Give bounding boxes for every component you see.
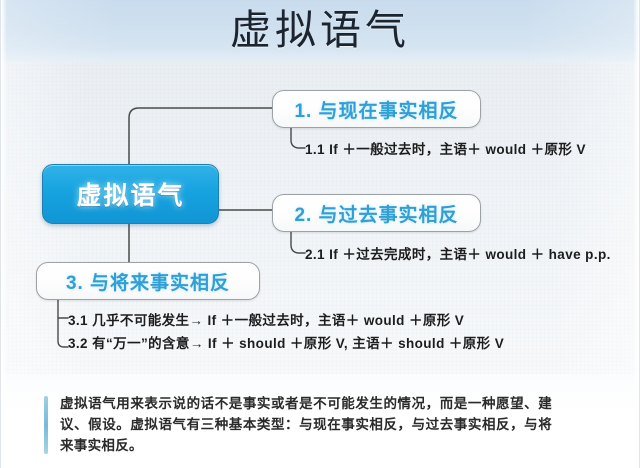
branch-node-3[interactable]: 3. 与将来事实相反 bbox=[36, 262, 260, 300]
sub-item-1-1: 1.1 If ＋一般过去时，主语＋ would ＋原形 V bbox=[305, 138, 586, 158]
central-node[interactable]: 虚拟语气 bbox=[42, 164, 219, 224]
branch-node-3-label: 3. 与将来事实相反 bbox=[66, 268, 230, 295]
branch-node-1-label: 1. 与现在事实相反 bbox=[294, 96, 458, 123]
sub-item-2-1: 2.1 If ＋过去完成时，主语＋ would ＋ have p.p. bbox=[305, 243, 611, 263]
central-node-label: 虚拟语气 bbox=[76, 176, 184, 212]
branch-node-2[interactable]: 2. 与过去事实相反 bbox=[272, 194, 481, 232]
mindmap-page: 虚拟语气 虚拟语气 1. 与现在事实相反 2. 与过去事实相反 3. 与将来事实… bbox=[0, 0, 640, 468]
sub-item-3-2: 3.2 有“万一”的含意→ If ＋ should ＋原形 V, 主语＋ sho… bbox=[68, 332, 504, 352]
summary-text: 虚拟语气用来表示说的话不是事实或者是不可能发生的情况，而是一种愿望、建议、假设。… bbox=[60, 393, 552, 456]
page-title: 虚拟语气 bbox=[0, 2, 640, 58]
summary-accent-bar bbox=[44, 396, 48, 454]
sub-item-3-1: 3.1 几乎不可能发生→ If ＋一般过去时，主语＋ would ＋原形 V bbox=[68, 309, 464, 329]
branch-node-1[interactable]: 1. 与现在事实相反 bbox=[272, 90, 481, 128]
branch-node-2-label: 2. 与过去事实相反 bbox=[294, 200, 458, 227]
